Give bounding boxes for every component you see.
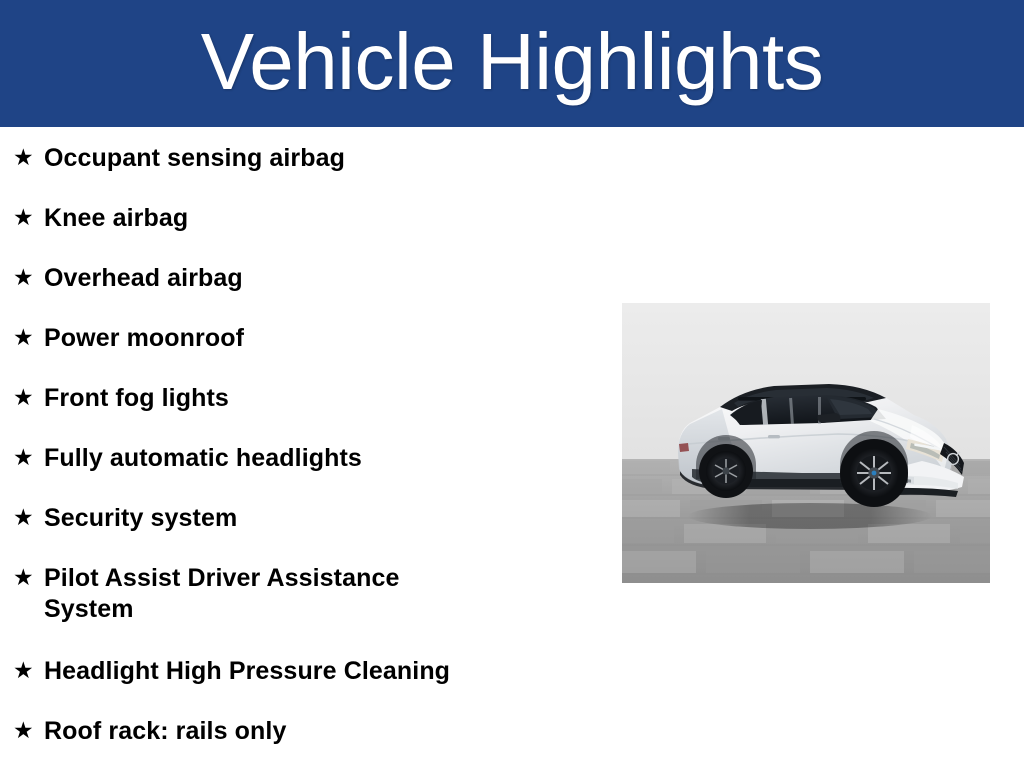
star-bullet-icon: ★: [10, 263, 44, 293]
star-bullet-icon: ★: [10, 203, 44, 233]
header-banner: Vehicle Highlights: [0, 0, 1024, 127]
star-bullet-icon: ★: [10, 563, 44, 593]
list-item-label: Power moonroof: [44, 323, 494, 354]
list-item: ★ Front fog lights: [10, 383, 610, 443]
list-item: ★ Occupant sensing airbag: [10, 143, 610, 203]
list-item: ★ Power moonroof: [10, 323, 610, 383]
list-item: ★ Security system: [10, 503, 610, 563]
list-item-label: Pilot Assist Driver Assistance System: [44, 563, 494, 625]
vehicle-highlights-list: ★ Occupant sensing airbag ★ Knee airbag …: [10, 143, 610, 768]
list-item-label: Knee airbag: [44, 203, 494, 234]
list-item-label: Roof rack: rails only: [44, 716, 494, 747]
star-bullet-icon: ★: [10, 143, 44, 173]
list-item-label: Headlight High Pressure Cleaning: [44, 656, 494, 687]
list-item: ★ Knee airbag: [10, 203, 610, 263]
vehicle-photo-image: [622, 303, 990, 583]
list-item: ★ Headlight High Pressure Cleaning: [10, 656, 610, 716]
list-item: ★ Roof rack: rails only: [10, 716, 610, 768]
list-item-label: Occupant sensing airbag: [44, 143, 494, 174]
list-item-label: Overhead airbag: [44, 263, 494, 294]
list-item-label: Fully automatic headlights: [44, 443, 494, 474]
star-bullet-icon: ★: [10, 383, 44, 413]
list-item: ★ Fully automatic headlights: [10, 443, 610, 503]
star-bullet-icon: ★: [10, 443, 44, 473]
list-item: ★ Overhead airbag: [10, 263, 610, 323]
front-wheel: [840, 439, 908, 507]
star-bullet-icon: ★: [10, 323, 44, 353]
star-bullet-icon: ★: [10, 503, 44, 533]
star-bullet-icon: ★: [10, 656, 44, 686]
slide-canvas: Vehicle Highlights ★ Occupant sensing ai…: [0, 0, 1024, 768]
vehicle-photo: [622, 303, 990, 583]
list-item: ★ Pilot Assist Driver Assistance System: [10, 563, 610, 656]
page-title: Vehicle Highlights: [201, 22, 823, 102]
rear-wheel: [699, 444, 753, 498]
star-bullet-icon: ★: [10, 716, 44, 746]
list-item-label: Security system: [44, 503, 494, 534]
list-item-label: Front fog lights: [44, 383, 494, 414]
